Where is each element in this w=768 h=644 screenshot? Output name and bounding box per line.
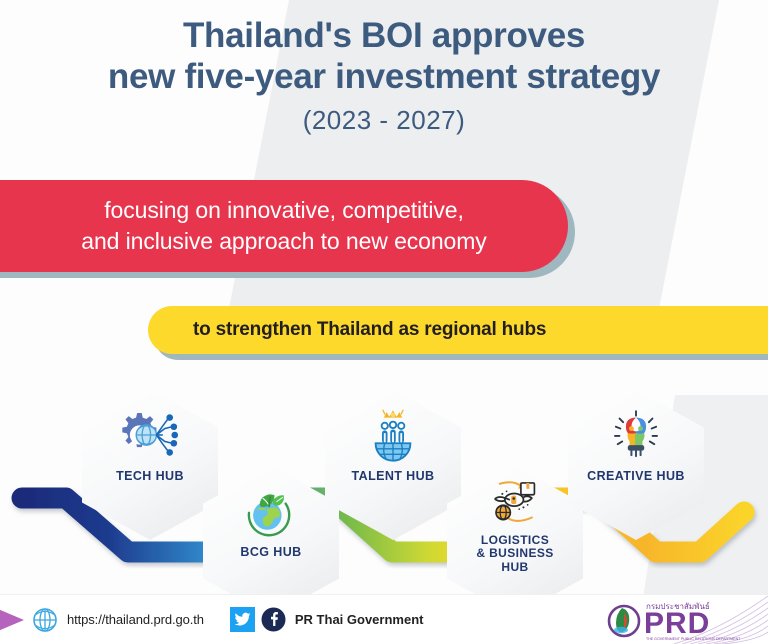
hub-label-bcg: BCG HUB	[240, 545, 301, 559]
prd-tagline: THE GOVERNMENT PUBLIC RELATIONS DEPARTME…	[646, 637, 741, 641]
hub-label-logistics-line-2: & BUSINESS	[476, 546, 553, 560]
title-years: (2023 - 2027)	[0, 101, 768, 140]
earth-leaves-icon	[238, 480, 304, 542]
hub-label-tech: TECH HUB	[116, 469, 184, 483]
title-line-2: new five-year investment strategy	[0, 57, 768, 98]
airplane-package-globe-icon	[482, 477, 548, 531]
title-line-1: Thailand's BOI approves	[0, 16, 768, 57]
yellow-banner-text: to strengthen Thailand as regional hubs	[193, 319, 546, 341]
facebook-icon[interactable]	[261, 607, 286, 632]
hub-label-logistics-line-3: HUB	[501, 560, 528, 574]
social-account-label: PR Thai Government	[295, 612, 424, 627]
hub-hexagon-talent[interactable]: TALENT HUB	[325, 390, 461, 540]
chevron-right-arrow-icon	[0, 609, 24, 631]
hub-label-logistics-line-1: LOGISTICS	[481, 533, 549, 547]
yellow-banner: to strengthen Thailand as regional hubs	[148, 306, 768, 354]
prd-emblem-icon	[609, 606, 639, 636]
hub-hexagon-creative[interactable]: CREATIVE HUB	[568, 390, 704, 540]
prd-acronym: PRD	[644, 607, 710, 640]
hub-label-talent: TALENT HUB	[352, 469, 435, 483]
gear-globe-circuit-icon	[117, 404, 183, 466]
pink-banner: focusing on innovative, competitive, and…	[0, 180, 568, 272]
footer-bar: https://thailand.prd.go.th PR Thai Gover…	[0, 594, 768, 644]
globe-icon	[32, 607, 58, 633]
infographic-root: Thailand's BOI approves new five-year in…	[0, 0, 768, 644]
page-title: Thailand's BOI approves new five-year in…	[0, 16, 768, 140]
hub-diagram: TECH HUB BCG HUB	[0, 370, 768, 600]
pink-banner-line-2: and inclusive approach to new economy	[81, 226, 486, 257]
website-url[interactable]: https://thailand.prd.go.th	[67, 612, 204, 627]
twitter-icon[interactable]	[230, 607, 255, 632]
prd-logo: กรมประชาสัมพันธ์ PRD THE GOVERNMENT PUBL…	[602, 597, 762, 643]
hub-label-logistics: LOGISTICS & BUSINESS HUB	[460, 534, 570, 574]
crown-people-globe-icon	[360, 404, 426, 466]
hub-label-creative: CREATIVE HUB	[587, 469, 685, 483]
puzzle-lightbulb-icon	[603, 404, 669, 466]
pink-banner-line-1: focusing on innovative, competitive,	[104, 195, 464, 226]
hub-hexagon-tech[interactable]: TECH HUB	[82, 390, 218, 540]
